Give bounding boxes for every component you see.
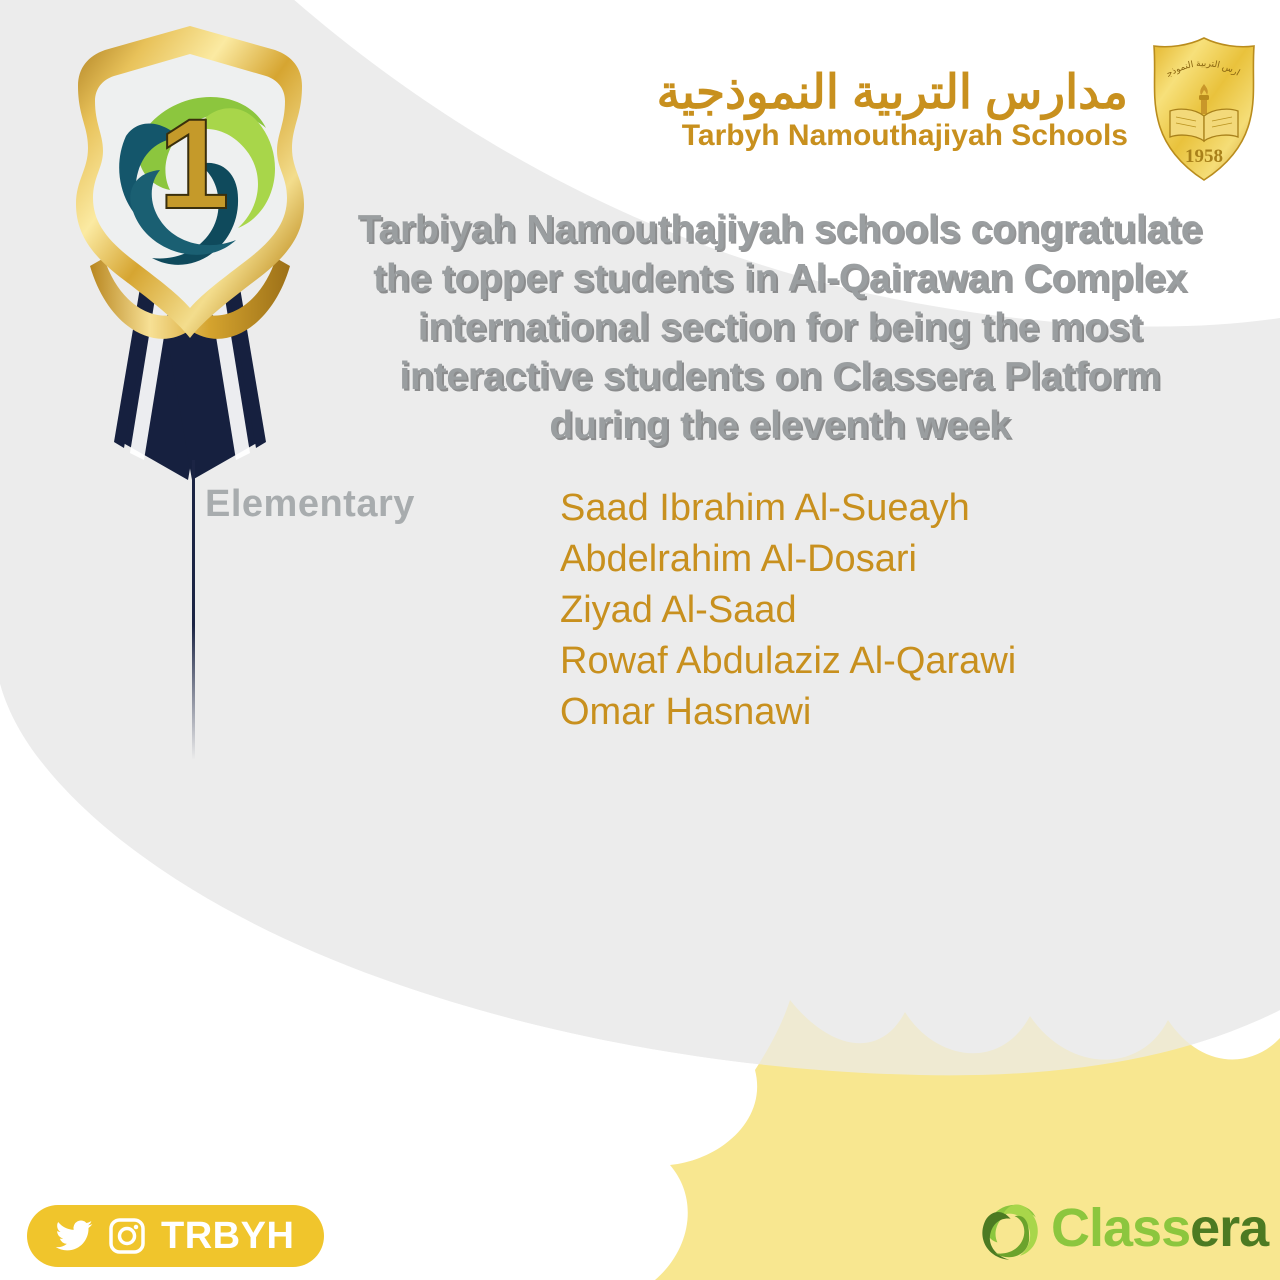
headline-line-5: during the eleventh week bbox=[300, 401, 1260, 450]
list-item: Saad Ibrahim Al-Sueayh bbox=[560, 483, 1016, 534]
school-crest-icon: مدارس التربية النموذجية 1958 bbox=[1144, 34, 1264, 184]
list-item: Rowaf Abdulaziz Al-Qarawi bbox=[560, 636, 1016, 687]
crest-year: 1958 bbox=[1185, 146, 1223, 167]
vertical-divider bbox=[192, 460, 195, 760]
classera-word-part-1: Class bbox=[1051, 1198, 1190, 1258]
classera-word-part-2: era bbox=[1190, 1198, 1268, 1258]
social-handle-text: TRBYH bbox=[161, 1217, 294, 1255]
rank-number: 1 bbox=[158, 93, 229, 236]
school-name-arabic: مدارس التربية النموذجية bbox=[657, 68, 1128, 115]
classera-wordmark: Classera bbox=[1051, 1201, 1268, 1255]
headline-line-3: international section for being the most bbox=[300, 303, 1260, 352]
school-brand: مدارس التربية النموذجية Tarbyh Namouthaj… bbox=[657, 34, 1264, 184]
first-place-medal: 1 bbox=[40, 8, 340, 508]
school-name-english: Tarbyh Namouthajiyah Schools bbox=[657, 121, 1128, 151]
poster-canvas: 1 1 مدارس التربية النموذجية Tarbyh Namou… bbox=[0, 0, 1280, 1280]
section-label-elementary: Elementary bbox=[205, 483, 415, 526]
classera-logo: Classera bbox=[975, 1195, 1268, 1261]
student-name-list: Saad Ibrahim Al-Sueayh Abdelrahim Al-Dos… bbox=[560, 483, 1016, 738]
social-handle-badge[interactable]: TRBYH bbox=[27, 1205, 324, 1267]
list-item: Omar Hasnawi bbox=[560, 687, 1016, 738]
headline-line-1: Tarbiyah Namouthajiyah schools congratul… bbox=[300, 205, 1260, 254]
classera-swirl-icon bbox=[975, 1195, 1041, 1261]
list-item: Ziyad Al-Saad bbox=[560, 585, 1016, 636]
headline: Tarbiyah Namouthajiyah schools congratul… bbox=[300, 205, 1260, 450]
headline-line-4: interactive students on Classera Platfor… bbox=[300, 352, 1260, 401]
school-name-block: مدارس التربية النموذجية Tarbyh Namouthaj… bbox=[657, 68, 1128, 151]
instagram-icon[interactable] bbox=[107, 1216, 147, 1256]
list-item: Abdelrahim Al-Dosari bbox=[560, 534, 1016, 585]
twitter-icon[interactable] bbox=[51, 1216, 97, 1256]
headline-line-2: the topper students in Al-Qairawan Compl… bbox=[300, 254, 1260, 303]
